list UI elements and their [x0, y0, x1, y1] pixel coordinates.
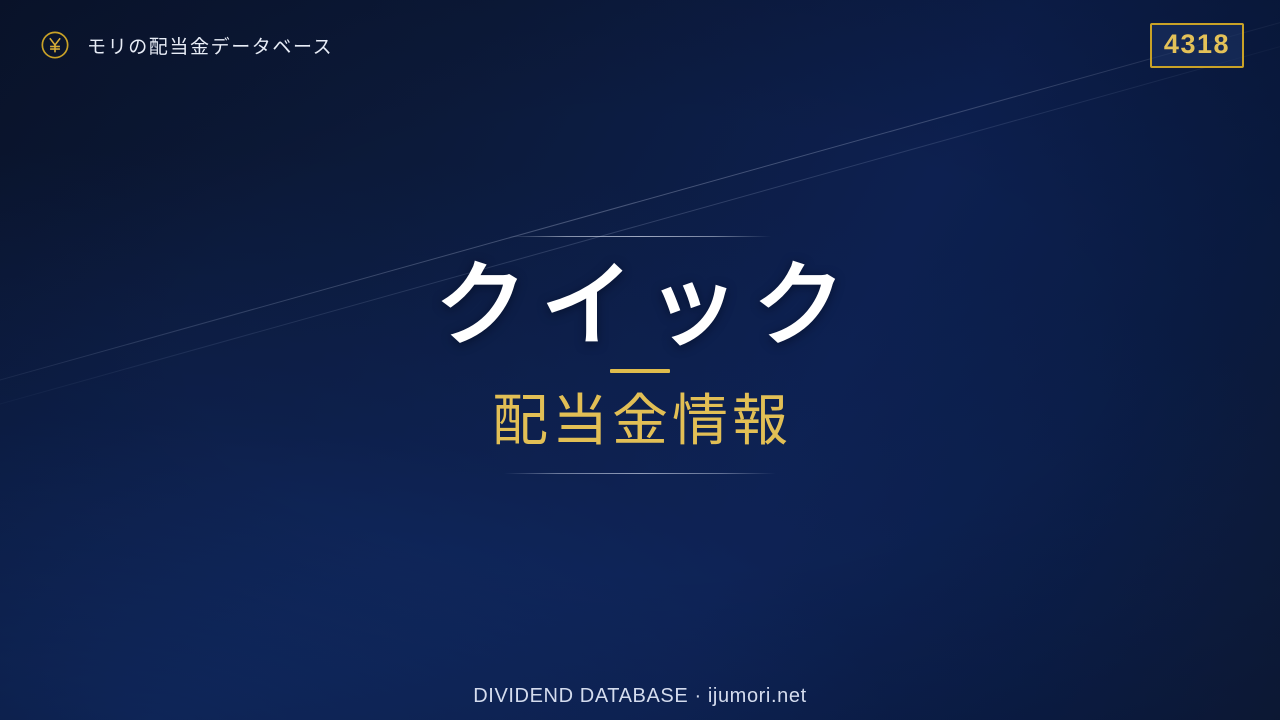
page-subtitle: 配当金情報 [488, 391, 792, 451]
slide-footer: DIVIDEND DATABASE · ijumori.net [0, 685, 1280, 708]
page-title: クイック [421, 259, 859, 355]
title-card-slide: モリの配当金データベース 4318 クイック 配当金情報 DIVIDEND DA… [0, 0, 1280, 720]
ticker-code-badge: 4318 [1150, 23, 1244, 68]
divider-above-title [509, 236, 771, 237]
divider-below-subtitle [504, 473, 776, 474]
brand-lockup: モリの配当金データベース [40, 30, 333, 60]
slide-header: モリの配当金データベース 4318 [0, 0, 1280, 90]
gold-accent-bar [610, 369, 670, 373]
yen-circle-icon [40, 30, 70, 60]
title-block: クイック 配当金情報 [0, 236, 1280, 474]
brand-name-label: モリの配当金データベース [87, 32, 333, 59]
footer-caption: DIVIDEND DATABASE · ijumori.net [473, 685, 806, 707]
